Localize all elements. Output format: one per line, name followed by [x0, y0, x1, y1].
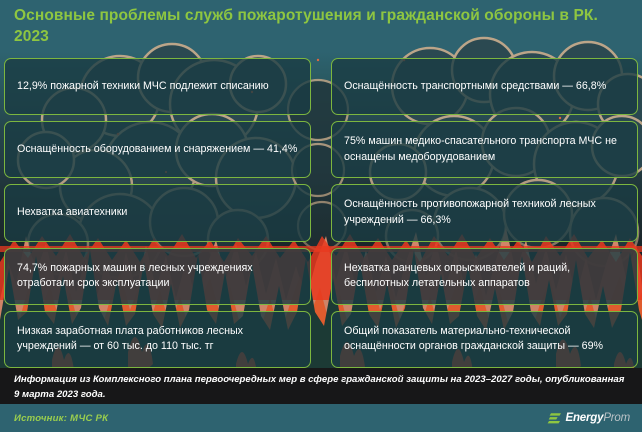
fact-card-9: Низкая заработная плата работников лесны… — [4, 311, 311, 368]
fact-card-3: Оснащённость оборудованием и снаряжением… — [4, 121, 311, 178]
fact-card-text: Оснащённость противопожарной техникой ле… — [344, 197, 625, 228]
fact-card-text: Общий показатель материально-технической… — [344, 324, 625, 355]
fact-card-text: Низкая заработная плата работников лесны… — [17, 324, 298, 355]
fact-card-grid: 12,9% пожарной техники МЧС подлежит спис… — [0, 58, 642, 368]
logo-word-prom: Prom — [603, 412, 630, 424]
fact-card-4: 75% машин медико-спасательного транспорт… — [331, 121, 638, 178]
fact-card-10: Общий показатель материально-технической… — [331, 311, 638, 368]
page-title: Основные проблемы служб пожаротушения и … — [14, 6, 628, 48]
source-label: Источник: МЧС РК — [14, 413, 108, 424]
fact-card-6: Оснащённость противопожарной техникой ле… — [331, 184, 638, 241]
fact-card-8: Нехватка ранцевых опрыскивателей и раций… — [331, 248, 638, 305]
fact-card-text: 12,9% пожарной техники МЧС подлежит спис… — [17, 79, 269, 95]
energyprom-e-mark-icon — [547, 411, 562, 426]
fact-card-5: Нехватка авиатехники — [4, 184, 311, 241]
footnote-text: Информация из Комплексного плана первооч… — [14, 373, 628, 403]
footnote-bar: Информация из Комплексного плана первооч… — [0, 368, 642, 404]
fact-card-text: Оснащённость оборудованием и снаряжением… — [17, 142, 297, 158]
infographic-poster: Основные проблемы служб пожаротушения и … — [0, 0, 642, 432]
fact-card-text: Оснащённость транспортными средствами — … — [344, 79, 606, 95]
fact-card-text: Нехватка ранцевых опрыскивателей и раций… — [344, 261, 625, 292]
source-bar: Источник: МЧС РК EnergyProm — [0, 404, 642, 432]
fact-card-2: Оснащённость транспортными средствами — … — [331, 58, 638, 115]
fact-card-1: 12,9% пожарной техники МЧС подлежит спис… — [4, 58, 311, 115]
logo-word-energy: Energy — [566, 412, 604, 424]
fact-card-text: 75% машин медико-спасательного транспорт… — [344, 134, 625, 165]
energyprom-logo: EnergyProm — [547, 411, 630, 426]
fact-card-text: 74,7% пожарных машин в лесных учреждения… — [17, 261, 298, 292]
fact-card-7: 74,7% пожарных машин в лесных учреждения… — [4, 248, 311, 305]
fact-card-text: Нехватка авиатехники — [17, 205, 127, 221]
